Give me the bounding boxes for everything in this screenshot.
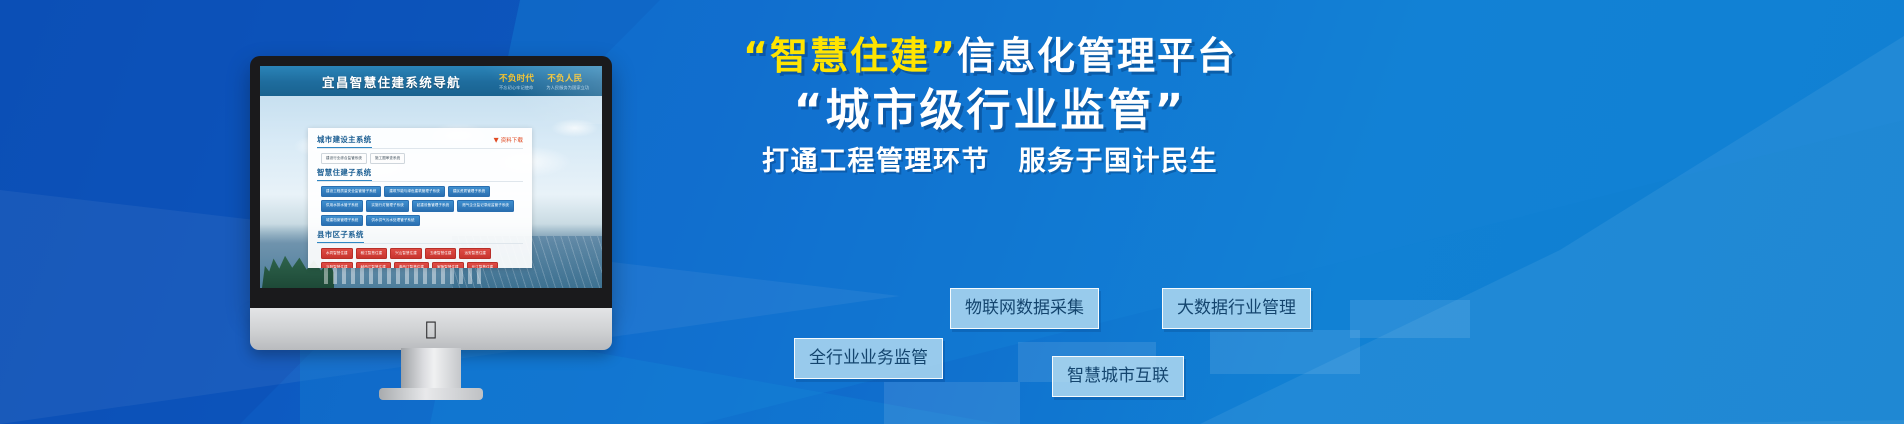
nav-button[interactable]: 施工图审查系统 <box>370 153 405 165</box>
tag-ghost-2 <box>1210 330 1360 374</box>
logo-subtext-left: 不忘初心牢记使命 <box>499 85 533 91</box>
nav-button[interactable]: 献西江智慧住建 <box>356 262 391 268</box>
section-buttons: 水同智慧住建 秭江智慧住建 兴山智慧住建 五峰智慧住建 远安智慧住建 当阳智慧住… <box>321 248 523 268</box>
feature-tag-iot[interactable]: 物联网数据采集 <box>950 288 1099 329</box>
nav-button[interactable]: 秭江智慧住建 <box>356 248 388 260</box>
tag-ghost-3 <box>884 382 1020 424</box>
download-label: 资料下载 <box>501 136 523 144</box>
section-buttons: 建设工程质量安全监管管子系统 建筑节能与绿色建筑管理子系统 建民资质管理子系统 … <box>321 186 523 227</box>
logo-subtext-right: 为人民服务为国家立功 <box>546 85 589 91</box>
nav-button[interactable]: 当阳智慧住建 <box>321 262 353 268</box>
nav-button[interactable]: 五峰智慧住建 <box>425 248 457 260</box>
headline-line-3: 打通工程管理环节 服务于国计民生 <box>640 147 1340 177</box>
nav-button[interactable]: 兴山智慧住建 <box>390 248 422 260</box>
section-city-main: 城市建设主系统 ▼ 资料下载 建设行业综合监管系统 施工图审查系统 <box>317 134 523 164</box>
feature-tag-bigdata[interactable]: 大数据行业管理 <box>1162 288 1311 329</box>
monitor-screen: 宜昌智慧住建系统导航 不负时代 不负人民 不忘初心牢记使命 为人民服务为国家立功 <box>260 66 602 288</box>
monitor-bezel: 宜昌智慧住建系统导航 不负时代 不负人民 不忘初心牢记使命 为人民服务为国家立功 <box>250 56 612 308</box>
nav-button[interactable]: 城建档案管理子系统 <box>321 215 363 227</box>
section-smart-housing: 智慧住建子系统 建设工程质量安全监管管子系统 建筑节能与绿色建筑管理子系统 建民… <box>317 167 523 226</box>
section-title: 智慧住建子系统 <box>317 167 372 181</box>
section-title: 城市建设主系统 <box>317 134 372 148</box>
nav-button[interactable]: 水同智慧住建 <box>321 248 353 260</box>
section-title: 县市区子系统 <box>317 229 364 243</box>
nav-button[interactable]: 远安智慧住建 <box>459 248 491 260</box>
monitor-stand <box>401 348 461 394</box>
nav-button[interactable]: 供水供气污水处理管子系统 <box>366 215 419 227</box>
promo-banner: 宜昌智慧住建系统导航 不负时代 不负人民 不忘初心牢记使命 为人民服务为国家立功 <box>0 0 1904 424</box>
section-county-sub: 县市区子系统 水同智慧住建 秭江智慧住建 兴山智慧住建 五峰智慧住建 远安智慧住… <box>317 229 523 268</box>
feature-tag-smart-city[interactable]: 智慧城市互联 <box>1052 356 1184 397</box>
nav-button[interactable]: 建设工程质量安全监管管子系统 <box>321 186 381 198</box>
download-icon: ▼ <box>494 136 499 144</box>
logo-text-left: 不负时代 <box>499 72 534 84</box>
headline-line-1: “智慧住建”信息化管理平台 <box>640 36 1340 77</box>
feature-tag-industry-supervision[interactable]: 全行业业务监管 <box>794 338 943 379</box>
nav-button[interactable]: 供用水排水管子系统 <box>321 200 363 212</box>
headline-line-1-rest: 信息化管理平台 <box>957 34 1237 78</box>
nav-button[interactable]: 建筑节能与绿色建筑管理子系统 <box>384 186 444 198</box>
headline-line-2: “城市级行业监管” <box>640 87 1340 135</box>
nav-button[interactable]: 家陵智慧住建 <box>432 262 464 268</box>
tag-ghost-4 <box>1350 300 1470 338</box>
download-link[interactable]: ▼ 资料下载 <box>494 136 523 144</box>
logo-text-right: 不负人民 <box>547 72 582 84</box>
nav-button[interactable]: 建民资质管理子系统 <box>448 186 490 198</box>
monitor-chin:  <box>250 308 612 350</box>
headline-block: “智慧住建”信息化管理平台 “城市级行业监管” 打通工程管理环节 服务于国计民生 <box>640 36 1340 176</box>
nav-button[interactable]: 实施行灯管理子系统 <box>366 200 408 212</box>
nav-button[interactable]: 长江智慧住建 <box>467 262 499 268</box>
nav-button[interactable]: 燃气企业监记录经监管子系统 <box>457 200 514 212</box>
section-buttons: 建设行业综合监管系统 施工图审查系统 <box>321 153 523 165</box>
nav-button[interactable]: 建设行业综合监管系统 <box>321 153 367 165</box>
nav-button[interactable]: 粤西江智慧住建 <box>394 262 429 268</box>
site-logo: 不负时代 不负人民 不忘初心牢记使命 为人民服务为国家立功 <box>499 72 589 91</box>
headline-highlight: “智慧住建” <box>743 34 957 78</box>
nav-button[interactable]: 起重设备管理子系统 <box>412 200 454 212</box>
website-page: 宜昌智慧住建系统导航 不负时代 不负人民 不忘初心牢记使命 为人民服务为国家立功 <box>260 66 602 288</box>
site-header: 宜昌智慧住建系统导航 不负时代 不负人民 不忘初心牢记使命 为人民服务为国家立功 <box>260 66 602 96</box>
apple-logo-icon:  <box>425 320 436 339</box>
navigation-panel: 城市建设主系统 ▼ 资料下载 建设行业综合监管系统 施工图审查系统 <box>308 128 532 268</box>
imac-device: 宜昌智慧住建系统导航 不负时代 不负人民 不忘初心牢记使命 为人民服务为国家立功 <box>250 56 612 308</box>
site-title: 宜昌智慧住建系统导航 <box>322 72 461 91</box>
